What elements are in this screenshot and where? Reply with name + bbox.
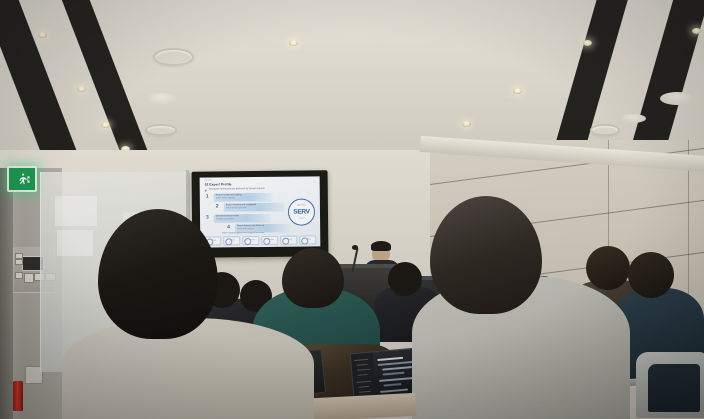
slide-step-line2: Define review objective	[216, 198, 235, 200]
bullet-icon	[205, 189, 207, 191]
file-tree-item	[359, 391, 371, 393]
slide-icon-cell: Match	[223, 236, 241, 245]
slide-subtitle: Structured review process delivered by d…	[209, 188, 265, 191]
presenter	[371, 241, 391, 251]
seated-attendee	[388, 262, 422, 296]
code-line	[383, 383, 401, 386]
file-tree-item	[354, 359, 368, 362]
slide-step-line1: Report delivery and follow-up	[237, 225, 264, 227]
file-tree-item	[359, 386, 370, 388]
emergency-exit-icon	[7, 166, 37, 192]
slide-icon-caption: Intake	[212, 240, 216, 241]
conference-chair	[648, 364, 700, 412]
spotlight-icon	[692, 28, 701, 34]
seminar-room-photo: Service 02 Expert Profile 5 Structured r…	[0, 0, 704, 419]
badge-text: SERV	[293, 208, 309, 215]
slide-step-line1: Request intake and scoping	[216, 194, 242, 196]
code-line	[378, 361, 416, 366]
slide-icon-cell: Follow	[299, 235, 317, 244]
code-line	[380, 388, 408, 392]
slide-step-number: 3	[206, 216, 209, 221]
slide-footer-note: Expert network supports every stage of t…	[222, 232, 264, 234]
code-line	[383, 372, 405, 376]
spotlight-icon	[583, 40, 592, 46]
slide-step-number: 1	[206, 195, 209, 200]
code-line	[377, 357, 403, 361]
seated-attendee	[586, 246, 630, 290]
glass-reflection	[55, 196, 97, 226]
file-tree-item	[356, 381, 371, 384]
slide-icon-cell: Analyse	[261, 235, 279, 244]
attendee-teal-jacket	[282, 248, 344, 308]
slide-icon-cell: Report	[280, 235, 298, 244]
slide-title: 02 Expert Profile	[205, 182, 232, 186]
sprinkler-ring-icon	[145, 124, 177, 136]
ceiling-speaker-icon	[146, 93, 178, 105]
slide-icon-row: Intake Match Review Analyse Report	[204, 235, 316, 245]
slide-step-line2: Select domain specialist	[226, 207, 246, 209]
fire-extinguisher-icon	[13, 381, 23, 411]
spotlight-icon	[77, 86, 86, 92]
spotlight-icon	[101, 122, 110, 128]
slide-step-line1: Expert matching and assignment	[226, 204, 256, 206]
code-line	[382, 366, 412, 370]
ceiling-speaker-icon	[620, 114, 646, 123]
slide-kicker: Service	[205, 179, 212, 181]
light-switch[interactable]	[15, 259, 23, 265]
spotlight-icon	[38, 32, 47, 38]
badge-top-label: CERTIFIED	[289, 205, 314, 206]
spotlight-icon	[513, 88, 522, 94]
slide-step-line2: Findings documented	[216, 219, 234, 221]
light-switch[interactable]	[15, 272, 23, 279]
presentation-slide: Service 02 Expert Profile 5 Structured r…	[200, 176, 321, 247]
light-switch[interactable]	[24, 273, 34, 283]
file-tree-item	[357, 369, 370, 372]
slide-icon-caption: Follow	[306, 239, 311, 240]
door-jamb	[0, 168, 13, 419]
slide-icon-caption: Review	[250, 240, 255, 241]
slide-icon-caption: Analyse	[269, 239, 275, 240]
file-tree-item	[357, 364, 368, 366]
slide-page-number: 5	[314, 180, 315, 183]
certification-badge: CERTIFIED SERV EXPERT	[288, 198, 315, 225]
seated-attendee	[628, 252, 674, 298]
file-tree-item	[358, 374, 368, 376]
presentation-display[interactable]: Service 02 Expert Profile 5 Structured r…	[192, 170, 329, 257]
ceiling-speaker-icon	[660, 92, 694, 105]
spotlight-icon	[289, 40, 298, 46]
microphone-icon	[352, 245, 358, 250]
code-line	[379, 377, 413, 382]
spotlight-icon	[462, 121, 471, 127]
slide-icon-caption: Report	[287, 239, 292, 240]
slide-icon-cell: Review	[242, 236, 260, 245]
slide-step-number: 4	[227, 225, 230, 230]
glass-reflection	[57, 230, 93, 256]
slide-step-line1: Detailed technical review	[216, 215, 239, 217]
slide-icon-caption: Match	[231, 240, 235, 241]
sprinkler-ring-icon	[590, 124, 620, 136]
badge-sub-label: EXPERT	[289, 218, 314, 219]
slide-step-number: 2	[216, 204, 219, 209]
slide-step-line2: Action items shared	[237, 228, 254, 230]
sprinkler-ring-icon	[153, 48, 194, 66]
